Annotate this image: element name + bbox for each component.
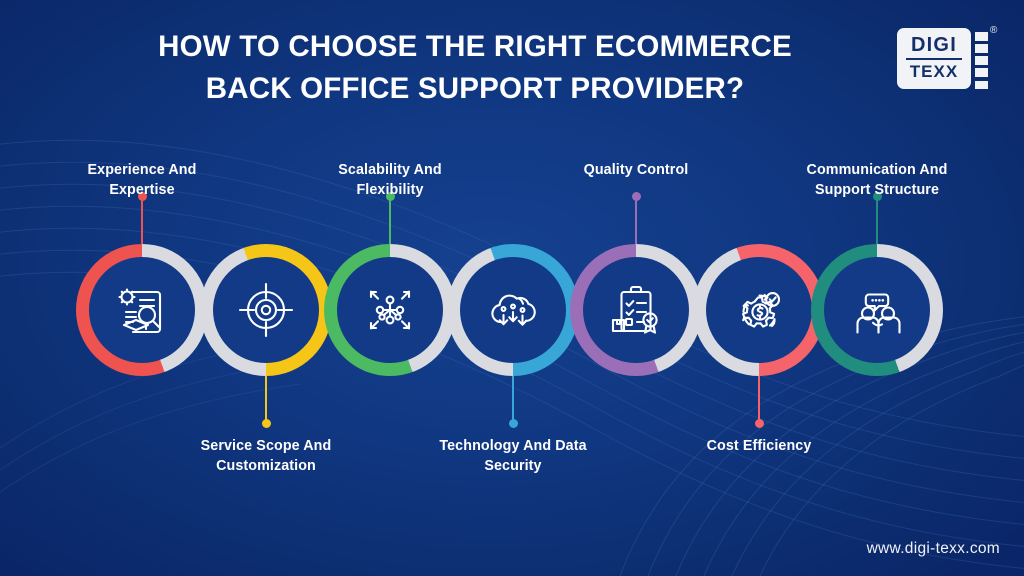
step-connector-5 [635,196,637,244]
steps-chain: Experience And Expertise Service Scope A [0,0,1024,576]
infographic-canvas: HOW TO CHOOSE THE RIGHT ECOMMERCE BACK O… [0,0,1024,576]
step-node-4[interactable] [447,244,579,376]
step-label-2-line-2: Customization [146,456,386,476]
step-label-5: Quality Control [516,160,756,180]
step-label-7: Communication And Support Structure [757,160,997,201]
step-label-6-line-1: Cost Efficiency [639,436,879,456]
step-label-1-line-1: Experience And [22,160,262,180]
step-label-7-line-1: Communication And [757,160,997,180]
step-node-3[interactable] [324,244,456,376]
document-gear-magnifier-graduation-icon [110,278,174,342]
step-node-6[interactable] [693,244,825,376]
step-connector-1 [141,196,143,244]
step-label-7-line-2: Support Structure [757,180,997,200]
cloud-download-icon [481,278,545,342]
step-label-3: Scalability And Flexibility [270,160,510,201]
step-node-1[interactable] [76,244,208,376]
step-label-4-line-2: Security [393,456,633,476]
step-label-2-line-1: Service Scope And [146,436,386,456]
step-label-3-line-1: Scalability And [270,160,510,180]
step-label-1-line-2: Expertise [22,180,262,200]
step-label-1: Experience And Expertise [22,160,262,201]
footer-website-url[interactable]: www.digi-texx.com [867,540,1000,558]
step-connector-4 [512,376,514,424]
step-connector-7 [876,196,878,244]
gear-dollar-refresh-check-icon [727,278,791,342]
two-people-speech-bubble-icon [845,278,909,342]
step-node-2[interactable] [200,244,332,376]
step-label-3-line-2: Flexibility [270,180,510,200]
step-connector-3 [389,196,391,244]
step-node-7[interactable] [811,244,943,376]
scalability-network-arrows-icon [358,278,422,342]
step-node-5[interactable] [570,244,702,376]
step-connector-2 [265,376,267,424]
step-label-5-line-1: Quality Control [516,160,756,180]
target-crosshair-icon [234,278,298,342]
step-label-4: Technology And Data Security [393,436,633,477]
step-label-2: Service Scope And Customization [146,436,386,477]
step-label-6: Cost Efficiency [639,436,879,456]
clipboard-checklist-seal-icon [604,278,668,342]
step-connector-6 [758,376,760,424]
step-label-4-line-1: Technology And Data [393,436,633,456]
